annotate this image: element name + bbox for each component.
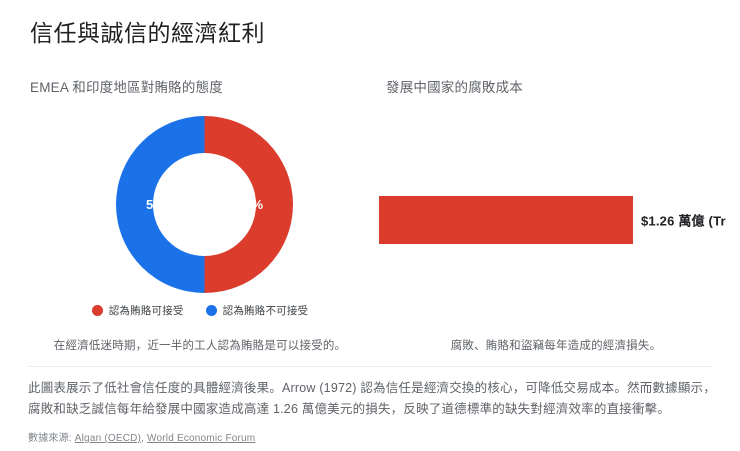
chart-panel-right: 發展中國家的腐敗成本 <box>386 76 726 96</box>
bar-chart-track: $1.26 萬億 (Tr <box>379 196 740 244</box>
chart-title-bar: 發展中國家的腐敗成本 <box>386 76 726 96</box>
caption-bar: 腐敗、賄賂和盜竊每年造成的經濟損失。 <box>386 337 726 353</box>
page-title: 信任與誠信的經濟紅利 <box>30 14 265 48</box>
source-link-world-economic-forum[interactable]: World Economic Forum <box>147 433 255 444</box>
caption-donut: 在經濟低迷時期，近一半的工人認為賄賂是可以接受的。 <box>30 337 370 353</box>
legend-label-unacceptable: 認為賄賂不可接受 <box>223 303 309 318</box>
bar-corruption-cost[interactable] <box>379 196 633 244</box>
chart-title-donut: EMEA 和印度地區對賄賂的態度 <box>30 76 370 96</box>
source-prefix: 數據來源: <box>28 433 75 444</box>
chart-panel-left: EMEA 和印度地區對賄賂的態度 <box>30 76 370 96</box>
infographic-page: 信任與誠信的經濟紅利 EMEA 和印度地區對賄賂的態度 發展中國家的腐敗成本 5… <box>0 0 740 451</box>
bar-chart: $1.26 萬億 (Tr <box>379 196 740 244</box>
legend-swatch-icon-red <box>92 305 103 316</box>
donut-value-label-unacceptable: 50% <box>146 197 172 212</box>
donut-chart: 50% 50% <box>116 116 293 293</box>
legend-item-unacceptable[interactable]: 認為賄賂不可接受 <box>206 303 309 318</box>
legend-label-acceptable: 認為賄賂可接受 <box>109 303 184 318</box>
legend-item-acceptable[interactable]: 認為賄賂可接受 <box>92 303 184 318</box>
source-line: 數據來源: Algan (OECD), World Economic Forum <box>28 429 255 444</box>
donut-chart-svg: 50% 50% <box>116 116 293 293</box>
donut-legend: 認為賄賂可接受 認為賄賂不可接受 <box>30 303 370 318</box>
donut-value-label-acceptable: 50% <box>237 197 263 212</box>
bar-value-label: $1.26 萬億 (Tr <box>641 211 726 230</box>
legend-swatch-icon-blue <box>206 305 217 316</box>
body-paragraph: 此圖表展示了低社會信任度的具體經濟後果。Arrow (1972) 認為信任是經濟… <box>28 378 718 420</box>
source-link-algan-oecd[interactable]: Algan (OECD) <box>75 433 141 444</box>
section-divider <box>28 366 712 367</box>
